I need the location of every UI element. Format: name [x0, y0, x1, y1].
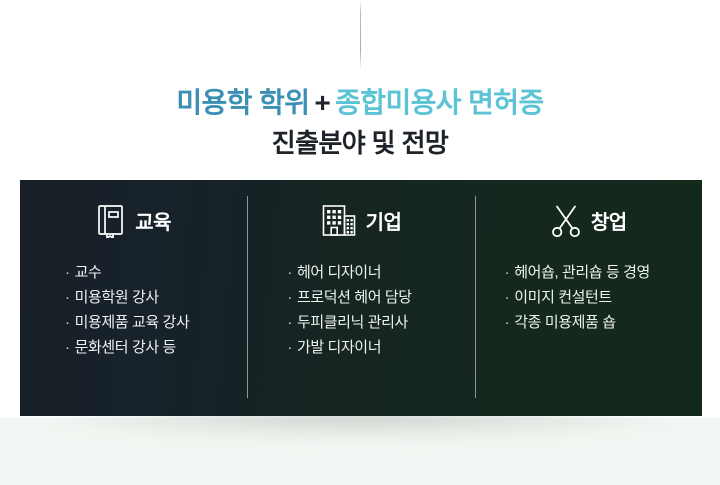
- bullet-glyph: ·: [65, 335, 70, 360]
- building-icon: [321, 204, 357, 243]
- list-item-label: 헤어 디자이너: [297, 260, 381, 285]
- headline-plus-sign: +: [309, 87, 335, 118]
- scissors-icon: [550, 204, 582, 243]
- list-item: · 교수: [65, 260, 247, 285]
- subheadline: 진출분야 및 전망: [0, 125, 720, 161]
- bullet-glyph: ·: [505, 260, 510, 285]
- column-title-education: 교육: [135, 213, 171, 233]
- book-icon: [96, 204, 126, 243]
- headline-part-license: 종합미용사 면허증: [335, 87, 543, 118]
- list-item-label: 미용학원 강사: [75, 285, 159, 310]
- career-column-education: 교육 · 교수 · 미용학원 강사 · 미용제품 교육 강사: [20, 180, 247, 416]
- career-list-startup: · 헤어숍, 관리숍 등 경영 · 이미지 컨설턴트 · 각종 미용제품 숍: [475, 260, 702, 335]
- bullet-glyph: ·: [505, 310, 510, 335]
- career-list-enterprise: · 헤어 디자이너 · 프로덕션 헤어 담당 · 두피클리닉 관리사 · 가발 …: [247, 260, 474, 360]
- list-item: · 헤어 디자이너: [287, 260, 474, 285]
- list-item-label: 헤어숍, 관리숍 등 경영: [514, 260, 650, 285]
- bullet-glyph: ·: [287, 335, 292, 360]
- list-item-label: 이미지 컨설턴트: [514, 285, 612, 310]
- career-columns: 교육 · 교수 · 미용학원 강사 · 미용제품 교육 강사: [20, 180, 702, 416]
- list-item-label: 가발 디자이너: [297, 335, 381, 360]
- infographic-stage: 미용학 학위+종합미용사 면허증 진출분야 및 전망 교: [0, 0, 720, 485]
- column-title-enterprise: 기업: [366, 213, 402, 233]
- list-item: · 헤어숍, 관리숍 등 경영: [505, 260, 702, 285]
- list-item-label: 두피클리닉 관리사: [297, 310, 408, 335]
- top-divider-hairline: [360, 0, 361, 70]
- list-item-label: 프로덕션 헤어 담당: [297, 285, 412, 310]
- list-item: · 각종 미용제품 숍: [505, 310, 702, 335]
- list-item-label: 미용제품 교육 강사: [75, 310, 190, 335]
- list-item: · 문화센터 강사 등: [65, 335, 247, 360]
- career-panel: 교육 · 교수 · 미용학원 강사 · 미용제품 교육 강사: [20, 180, 702, 416]
- bullet-glyph: ·: [287, 285, 292, 310]
- bullet-glyph: ·: [65, 310, 70, 335]
- bullet-glyph: ·: [65, 260, 70, 285]
- bullet-glyph: ·: [65, 285, 70, 310]
- heading-block: 미용학 학위+종합미용사 면허증 진출분야 및 전망: [0, 84, 720, 161]
- bullet-glyph: ·: [287, 310, 292, 335]
- list-item-label: 교수: [75, 260, 102, 285]
- career-column-enterprise: 기업 · 헤어 디자이너 · 프로덕션 헤어 담당 · 두피클리닉 관리사: [247, 180, 474, 416]
- bullet-glyph: ·: [505, 285, 510, 310]
- list-item: · 두피클리닉 관리사: [287, 310, 474, 335]
- list-item: · 프로덕션 헤어 담당: [287, 285, 474, 310]
- career-list-education: · 교수 · 미용학원 강사 · 미용제품 교육 강사 · 문화센터 강사 등: [20, 260, 247, 360]
- column-title-startup: 창업: [591, 213, 627, 233]
- column-header-enterprise: 기업: [247, 200, 474, 246]
- list-item: · 가발 디자이너: [287, 335, 474, 360]
- list-item: · 미용제품 교육 강사: [65, 310, 247, 335]
- column-header-education: 교육: [20, 200, 247, 246]
- headline: 미용학 학위+종합미용사 면허증: [0, 84, 720, 122]
- bullet-glyph: ·: [287, 260, 292, 285]
- list-item-label: 각종 미용제품 숍: [514, 310, 615, 335]
- career-column-startup: 창업 · 헤어숍, 관리숍 등 경영 · 이미지 컨설턴트 · 각종 미용제품 …: [475, 180, 702, 416]
- list-item-label: 문화센터 강사 등: [75, 335, 176, 360]
- headline-part-degree: 미용학 학위: [176, 87, 309, 118]
- column-header-startup: 창업: [475, 200, 702, 246]
- list-item: · 미용학원 강사: [65, 285, 247, 310]
- list-item: · 이미지 컨설턴트: [505, 285, 702, 310]
